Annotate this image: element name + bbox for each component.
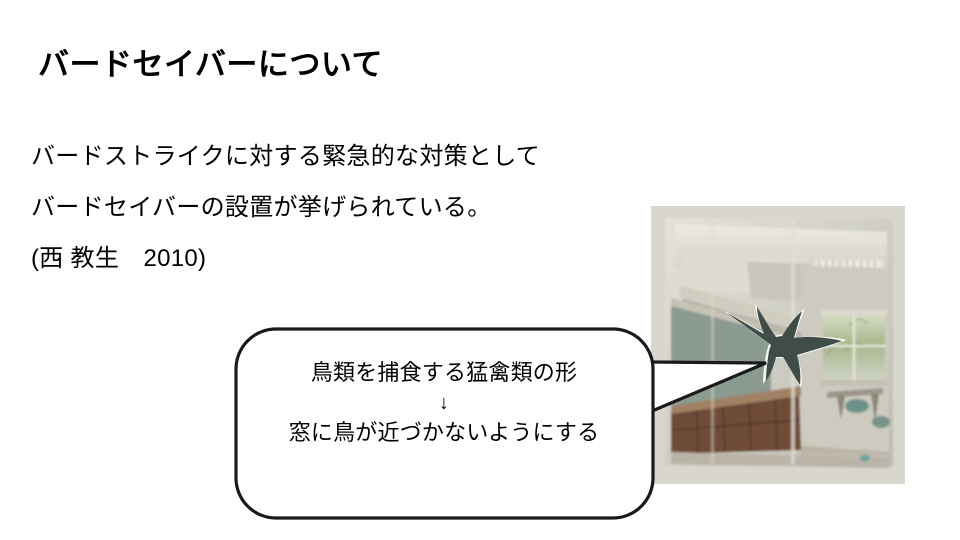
slide-canvas: バードセイバーについて バードストライクに対する緊急的な対策として バードセイバ…: [0, 0, 960, 540]
body-line-2: バードセイバーの設置が挙げられている。: [31, 182, 651, 233]
callout-line-2: 窓に鳥が近づかないようにする: [244, 416, 644, 450]
body-line-1: バードストライクに対する緊急的な対策として: [31, 131, 651, 182]
photo-illustration: [651, 206, 905, 484]
bird-saver-photo: [651, 206, 905, 484]
callout-line-1: 鳥類を捕食する猛禽類の形: [244, 356, 644, 390]
down-arrow-icon: ↓: [244, 390, 644, 416]
body-text-block: バードストライクに対する緊急的な対策として バードセイバーの設置が挙げられている…: [31, 131, 651, 284]
page-title: バードセイバーについて: [38, 46, 383, 83]
callout-text-block: 鳥類を捕食する猛禽類の形 ↓ 窓に鳥が近づかないようにする: [244, 356, 644, 450]
citation-line: (西 教生 2010): [31, 233, 651, 284]
